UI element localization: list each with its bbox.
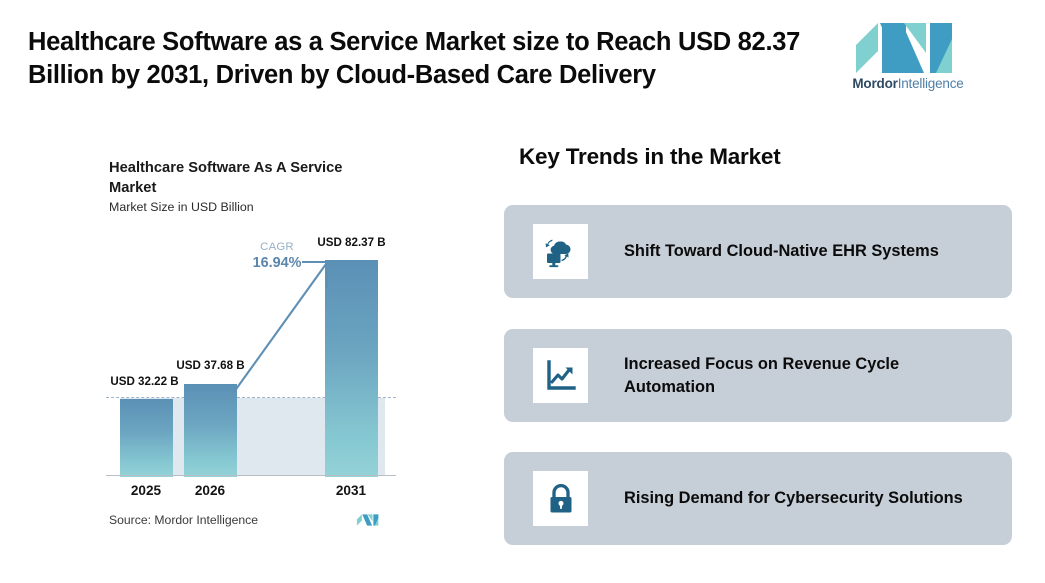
brand-word-light: Intelligence — [898, 76, 964, 91]
chart-subtitle: Market Size in USD Billion — [109, 200, 254, 214]
x-axis-line — [106, 475, 396, 476]
growth-arrow-icon — [228, 252, 340, 397]
trend-card-revenue-cycle-automation[interactable]: Increased Focus on Revenue Cycle Automat… — [504, 329, 1012, 422]
brand-word-bold: Mordor — [852, 76, 897, 91]
chart-title: Healthcare Software As A Service Market — [109, 159, 359, 198]
bar-label-2025: USD 32.22 B — [98, 375, 191, 388]
bar-2025 — [120, 399, 173, 477]
page-title: Healthcare Software as a Service Market … — [28, 26, 828, 92]
mordor-intelligence-logo-icon — [852, 23, 964, 73]
cloud-sync-monitor-icon — [533, 224, 588, 279]
trend-card-label: Increased Focus on Revenue Cycle Automat… — [624, 353, 979, 398]
trend-card-label: Shift Toward Cloud-Native EHR Systems — [624, 240, 979, 263]
source-row: Source: Mordor Intelligence — [109, 512, 381, 528]
trend-card-label: Rising Demand for Cybersecurity Solution… — [624, 487, 979, 510]
trend-card-cybersecurity[interactable]: Rising Demand for Cybersecurity Solution… — [504, 452, 1012, 545]
source-text: Source: Mordor Intelligence — [109, 513, 258, 527]
brand-wordmark: MordorIntelligence — [852, 76, 964, 91]
mordor-intelligence-logo-icon-small — [356, 512, 381, 528]
x-tick-2026: 2026 — [170, 483, 250, 498]
trends-heading: Key Trends in the Market — [519, 144, 781, 170]
x-tick-2031: 2031 — [311, 483, 391, 498]
bar-2026 — [184, 384, 237, 477]
line-chart-up-icon — [533, 348, 588, 403]
bar-label-2031: USD 82.37 B — [305, 236, 398, 249]
trend-card-cloud-native-ehr[interactable]: Shift Toward Cloud-Native EHR Systems — [504, 205, 1012, 298]
brand-logo: MordorIntelligence — [852, 23, 964, 95]
padlock-icon — [533, 471, 588, 526]
